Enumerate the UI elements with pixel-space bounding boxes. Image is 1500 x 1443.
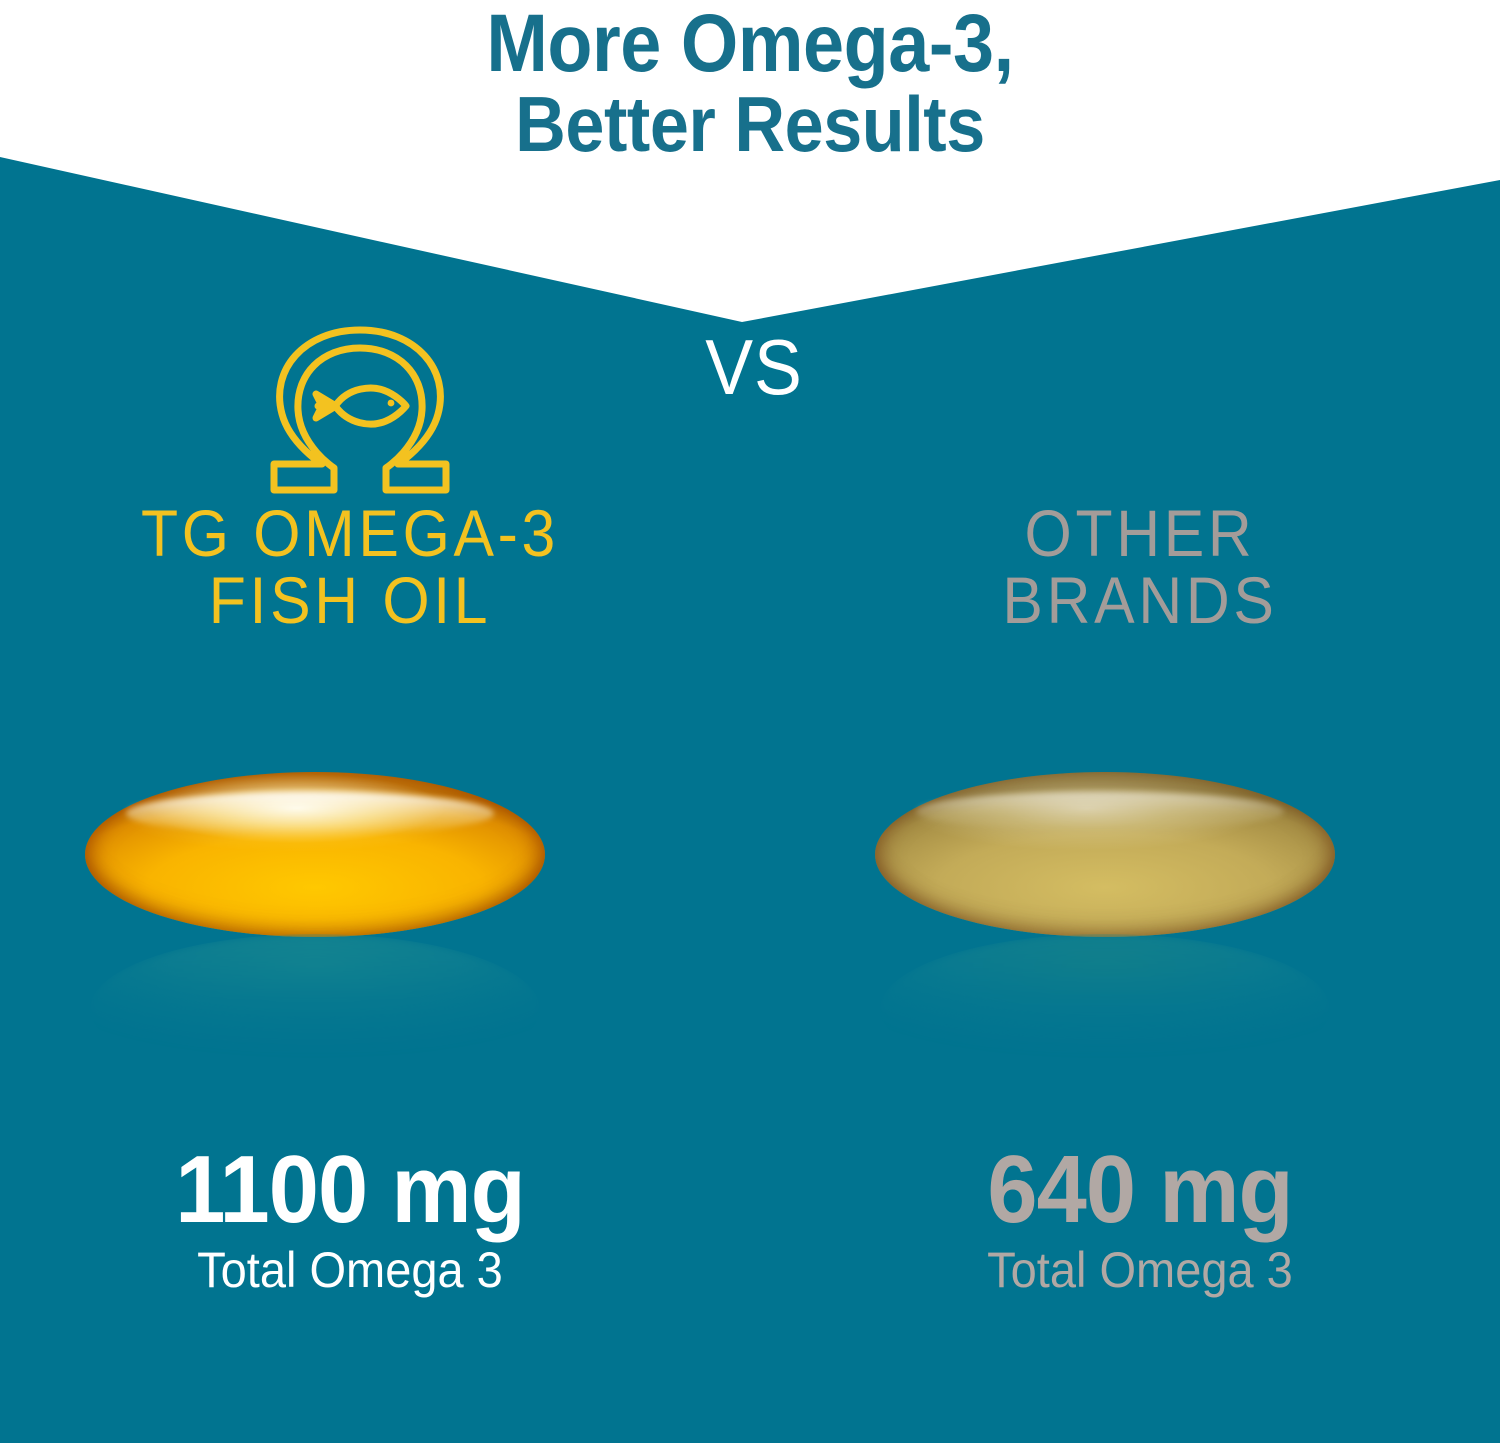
competitor-column: OTHER BRANDS 640 mg Total Omega 3 — [820, 322, 1460, 1443]
competitor-softgel-capsule — [875, 772, 1335, 937]
competitor-name-line-2: BRANDS — [846, 567, 1435, 634]
omega3-comparison-infographic: More Omega-3, Better Results VS — [0, 0, 1500, 1443]
headline-line-1: More Omega-3, — [75, 4, 1425, 84]
competitor-metric: 640 mg Total Omega 3 — [820, 1142, 1460, 1297]
competitor-pill-stage — [820, 762, 1460, 1082]
competitor-amount: 640 mg — [839, 1142, 1441, 1238]
competitor-name-label: OTHER BRANDS — [820, 500, 1460, 635]
brand-name-label: TG OMEGA-3 FISH OIL — [30, 500, 670, 635]
brand-amount: 1100 mg — [49, 1142, 651, 1238]
brand-name-line-2: FISH OIL — [56, 567, 645, 634]
brand-softgel-capsule — [85, 772, 545, 937]
competitor-amount-caption: Total Omega 3 — [839, 1244, 1441, 1297]
brand-metric: 1100 mg Total Omega 3 — [30, 1142, 670, 1297]
omega-fish-icon — [260, 318, 460, 498]
brand-column: TG OMEGA-3 FISH OIL 1100 mg Total Omega … — [30, 322, 670, 1443]
headline-line-2: Better Results — [75, 86, 1425, 162]
brand-pill-stage — [30, 762, 670, 1082]
brand-amount-caption: Total Omega 3 — [49, 1244, 651, 1297]
brand-capsule-reflection — [90, 934, 540, 1084]
competitor-capsule-reflection — [880, 934, 1330, 1084]
page-title: More Omega-3, Better Results — [0, 0, 1500, 163]
comparison-columns: TG OMEGA-3 FISH OIL 1100 mg Total Omega … — [0, 322, 1500, 1443]
brand-name-line-1: TG OMEGA-3 — [56, 500, 645, 567]
competitor-name-line-1: OTHER — [846, 500, 1435, 567]
